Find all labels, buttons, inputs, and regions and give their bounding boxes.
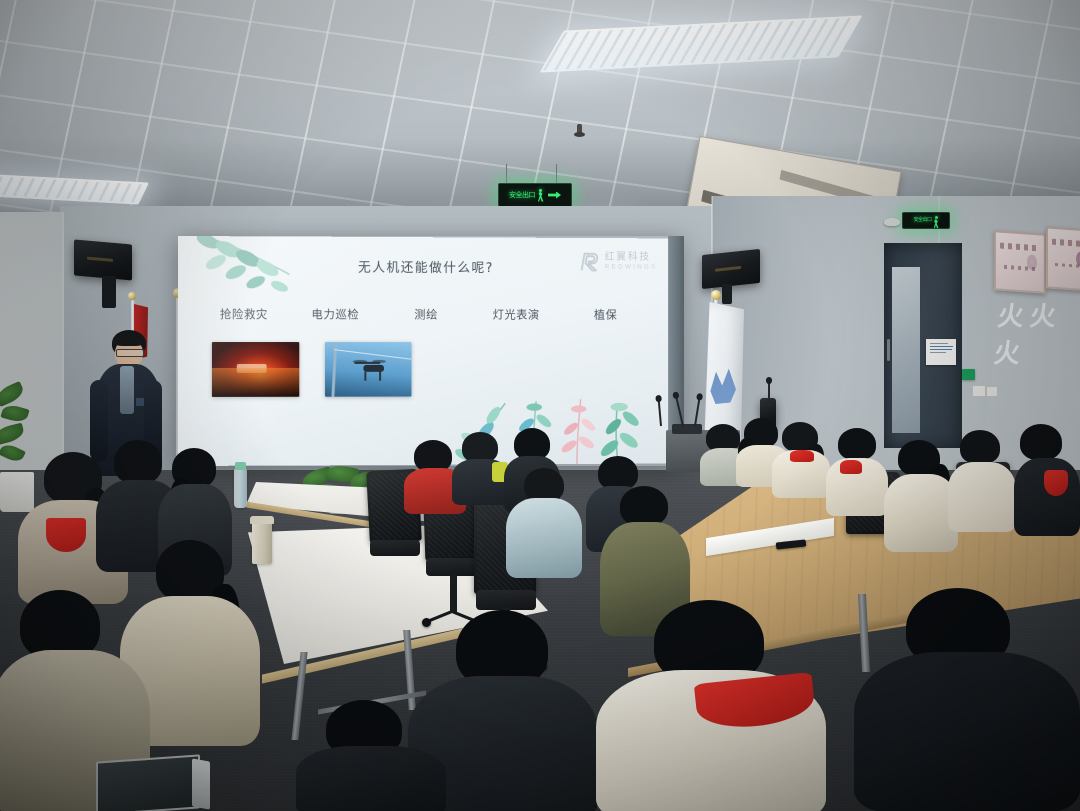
wall-decal: 火火火 [992,296,1080,370]
presenter-glasses [116,349,144,357]
student-foreground [854,588,1080,811]
student-hair [838,428,876,460]
student [826,428,888,514]
running-figure-icon [537,189,546,202]
door-glass-panel [892,267,920,433]
student-hair [620,486,668,526]
laptop[interactable] [96,758,216,811]
laptop-screen [96,754,200,811]
exit-sign-label: 安全出口 [509,192,535,199]
door-handle[interactable] [887,339,890,361]
student [452,432,510,504]
student-hair [524,468,564,502]
student [948,430,1016,530]
poster-heading-text [1000,243,1040,251]
arrow-right-icon [548,192,561,199]
wall-speaker-left [74,239,132,280]
speaker-mount [102,276,116,308]
red-neckerchief [790,450,814,462]
emergency-light [884,218,900,226]
water-bottle[interactable] [234,468,247,508]
exit-sign-hanger [506,164,507,184]
projection-screen: 红翼科技 REDWINGS 无人机还能做什么呢? 抢险救灾 电力巡检 测绘 灯光… [178,236,680,466]
company-flag-logo [710,367,736,405]
exit-sign-hanger [556,164,557,184]
student-jacket [296,746,446,811]
speaker-mount [722,284,732,304]
student-hair [114,440,162,484]
flagpole-finial [128,292,136,300]
student-hair [598,456,638,490]
running-figure-icon [933,216,939,225]
presenter-shirt [120,366,134,414]
sprinkler-head [577,124,582,135]
plant-leaf [0,403,29,425]
exit-sign-ceiling: 安全出口 [498,183,572,207]
student-foreground [296,700,446,811]
bottle-cap [235,462,246,470]
certificate-left [994,230,1046,294]
flagpole-finial [711,290,721,300]
notice-text-line [930,343,948,344]
student [884,440,958,550]
student [772,422,830,494]
exit-sign-door: 安全出口 [902,212,950,229]
student-jacket [884,474,958,552]
red-neckerchief [1044,470,1068,496]
student-hair [1020,424,1062,460]
plant-leaf [0,423,25,446]
laptop-lid-edge [192,758,210,809]
screen-glare [178,236,669,466]
mic-stand-right [768,382,770,402]
presenter-hair-front [113,333,145,346]
certificate-right [1046,226,1080,291]
notice-text-line [930,346,953,347]
slide-surface: 红翼科技 REDWINGS 无人机还能做什么呢? 抢险救灾 电力巡检 测绘 灯光… [178,236,669,466]
notice-text-line [930,352,946,353]
meeting-room-door[interactable] [884,243,962,448]
student [506,468,582,578]
chair-seat [476,590,536,610]
red-neckerchief [46,518,86,552]
student-jacket [506,498,582,578]
speaker-badge [715,266,742,272]
chair-seat [370,540,420,556]
cup-lid [250,516,274,524]
wall-speaker-right [702,249,760,289]
chair-post [450,574,457,612]
meeting-room-photo: 安全出口 安全出口 火火火 [0,0,1080,811]
wall-outlet [986,386,998,397]
poster-body-text [1055,263,1080,269]
door-notice-sheet [926,339,956,365]
red-neckerchief [840,460,862,474]
exit-sign-label: 安全出口 [913,218,931,223]
student-hair [960,430,1000,464]
speaker-badge [87,256,114,262]
notice-text-line [930,349,952,350]
student-foreground [596,600,826,811]
wall-green-fixture [962,369,975,380]
mic-base [672,424,702,434]
student-jacket [948,462,1016,532]
student-jacket [854,652,1080,811]
poster-heading-text [1052,239,1080,247]
student [1014,424,1080,534]
plant-leaf [0,381,26,407]
wall-outlet [972,385,986,397]
